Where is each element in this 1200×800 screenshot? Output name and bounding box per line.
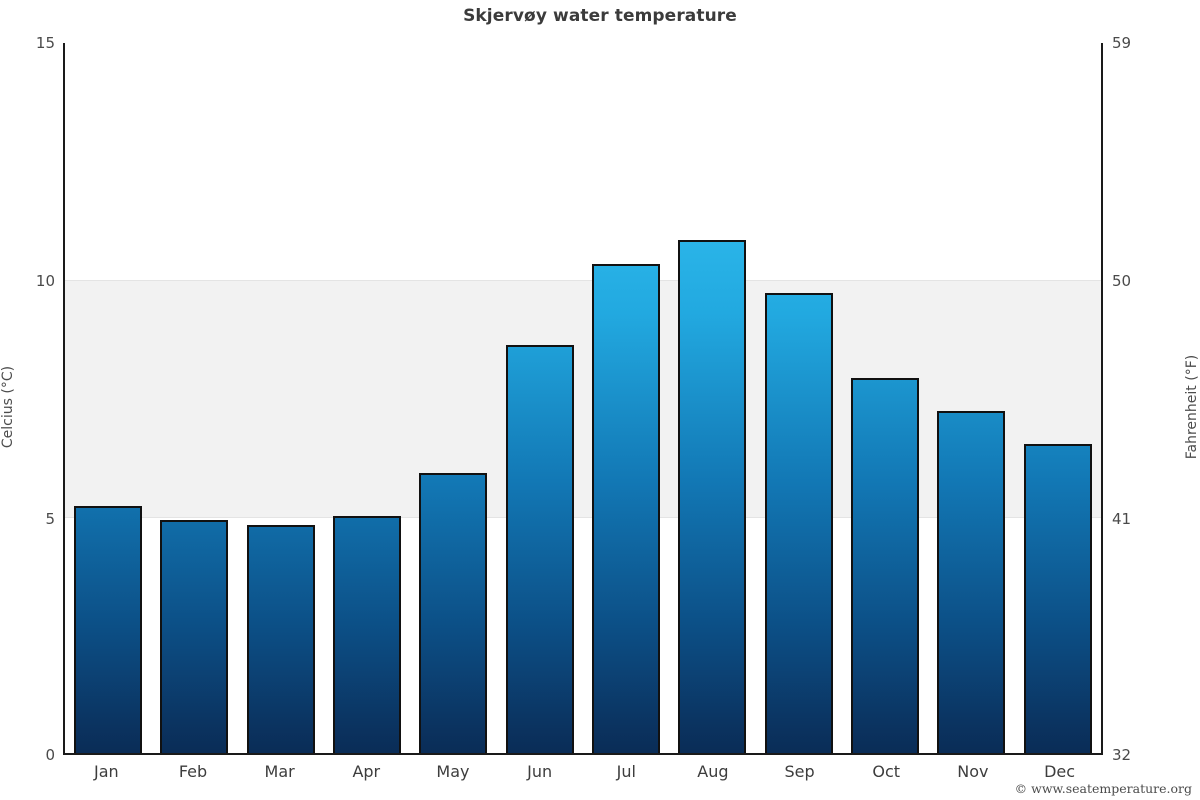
- x-label-jun: Jun: [496, 762, 583, 788]
- y-tick-left-10: 10: [11, 274, 63, 289]
- bar-slot: [669, 43, 755, 753]
- bar-slot: [842, 43, 928, 753]
- x-label-sep: Sep: [756, 762, 843, 788]
- bar-aug[interactable]: [678, 240, 746, 753]
- x-label-may: May: [410, 762, 497, 788]
- bar-slot: [151, 43, 237, 753]
- x-label-apr: Apr: [323, 762, 410, 788]
- y-tick-right-59: 59: [1103, 36, 1131, 51]
- x-label-aug: Aug: [670, 762, 757, 788]
- y-axis-left-title: Celcius (°C): [0, 337, 16, 477]
- bar-slot: [238, 43, 324, 753]
- bar-series: [65, 43, 1101, 753]
- plot-area: [63, 43, 1103, 755]
- y-tick-right-41: 41: [1103, 512, 1131, 527]
- bar-slot: [583, 43, 669, 753]
- x-label-mar: Mar: [236, 762, 323, 788]
- bar-slot: [324, 43, 410, 753]
- bar-slot: [65, 43, 151, 753]
- bar-dec[interactable]: [1024, 444, 1092, 753]
- x-label-jan: Jan: [63, 762, 150, 788]
- bar-sep[interactable]: [765, 293, 833, 753]
- bar-oct[interactable]: [851, 378, 919, 753]
- page-title: Skjervøy water temperature: [0, 6, 1200, 26]
- bar-jul[interactable]: [592, 264, 660, 753]
- y-tick-left-5: 5: [11, 512, 63, 527]
- y-tick-left-0: 0: [11, 748, 63, 763]
- bar-slot: [410, 43, 496, 753]
- bar-feb[interactable]: [160, 520, 228, 753]
- x-axis-labels: JanFebMarAprMayJunJulAugSepOctNovDec: [63, 762, 1103, 788]
- bar-slot: [756, 43, 842, 753]
- x-label-feb: Feb: [150, 762, 237, 788]
- bar-may[interactable]: [419, 473, 487, 753]
- y-axis-right-title: Fahrenheit (°F): [1184, 337, 1200, 477]
- bar-mar[interactable]: [247, 525, 315, 753]
- bar-slot: [928, 43, 1014, 753]
- bar-slot: [497, 43, 583, 753]
- y-tick-left-15: 15: [11, 36, 63, 51]
- y-tick-right-50: 50: [1103, 274, 1131, 289]
- bar-apr[interactable]: [333, 516, 401, 753]
- x-label-jul: Jul: [583, 762, 670, 788]
- bar-nov[interactable]: [937, 411, 1005, 753]
- x-label-nov: Nov: [930, 762, 1017, 788]
- x-label-oct: Oct: [843, 762, 930, 788]
- footer-credit: © www.seatemperature.org: [1015, 781, 1192, 796]
- bar-jun[interactable]: [506, 345, 574, 753]
- bar-jan[interactable]: [74, 506, 142, 753]
- y-tick-right-32: 32: [1103, 748, 1131, 763]
- bar-slot: [1015, 43, 1101, 753]
